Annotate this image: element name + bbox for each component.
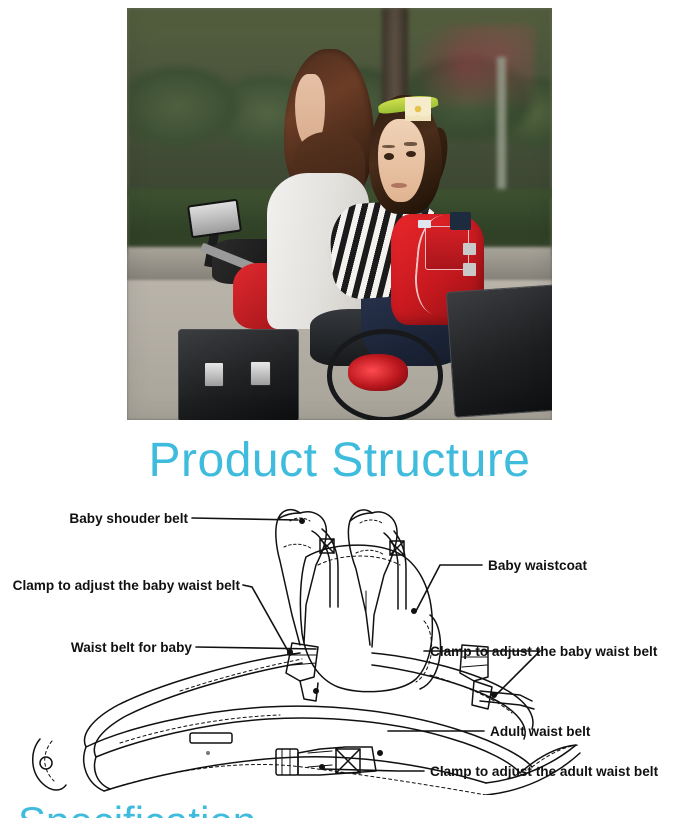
label-clamp-baby-waist-belt-left: Clamp to adjust the baby waist belt xyxy=(13,578,241,593)
label-baby-waistcoat: Baby waistcoat xyxy=(488,558,587,573)
page-title: Product Structure xyxy=(0,432,679,490)
label-clamp-adult-waist-belt: Clamp to adjust the adult waist belt xyxy=(430,764,659,779)
photo-vignette xyxy=(127,8,552,420)
label-clamp-baby-waist-belt-right: Clamp to adjust the baby waist belt xyxy=(430,644,658,659)
product-structure-diagram: Baby shouder belt Clamp to adjust the ba… xyxy=(0,495,679,795)
label-adult-waist-belt: Adult waist belt xyxy=(490,724,591,739)
bottom-section-heading: Specification xyxy=(18,797,256,818)
label-baby-shoulder-belt: Baby shouder belt xyxy=(69,511,188,526)
product-photo-image xyxy=(127,8,552,420)
leader-clamp-baby-waist-left xyxy=(243,585,288,651)
leader-baby-shoulder-belt xyxy=(192,518,298,520)
leader-waist-belt-baby xyxy=(196,647,316,649)
product-photo xyxy=(127,8,552,420)
label-waist-belt-for-baby: Waist belt for baby xyxy=(71,640,193,655)
